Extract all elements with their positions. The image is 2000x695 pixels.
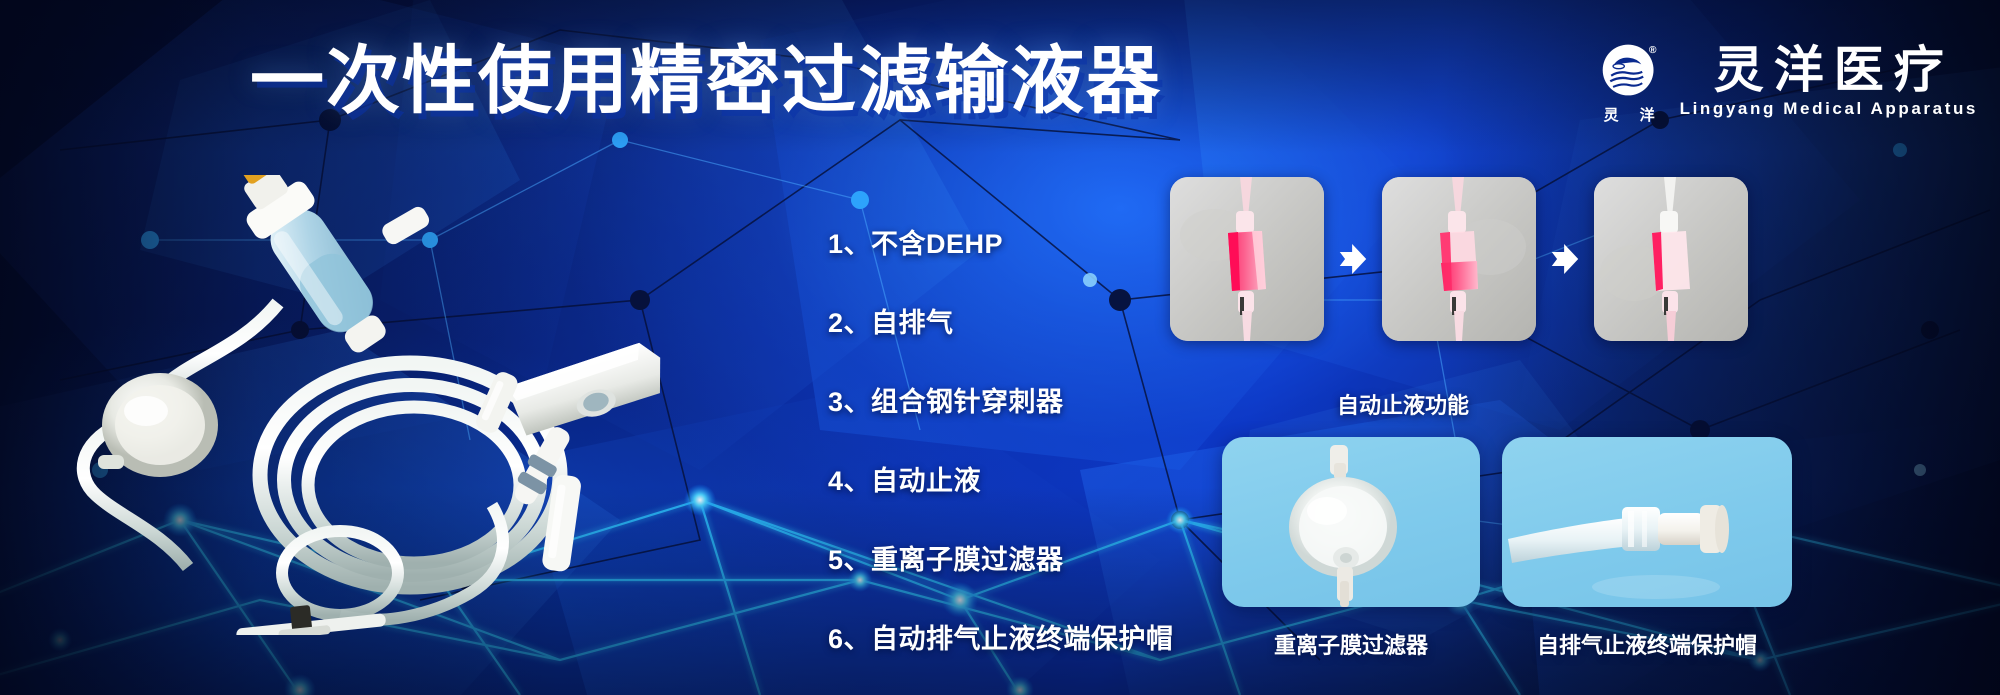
detail-panels — [1222, 437, 1792, 607]
product-banner: 一次性使用精密过滤输液器 ® 灵 洋 灵洋医疗 Ling — [0, 0, 2000, 695]
sequence-caption: 自动止液功能 — [1170, 388, 1636, 420]
heavy-ion-membrane-filter-photo — [1222, 437, 1480, 607]
lingyang-circle-emblem-icon: ® — [1598, 38, 1662, 102]
panel-caption-filter: 重离子膜过滤器 — [1222, 628, 1480, 660]
registered-mark-icon: ® — [1648, 45, 1656, 56]
brand-text-block: 灵洋医疗 Lingyang Medical Apparatus — [1680, 45, 1978, 119]
brand-name-cn: 灵洋医疗 — [1714, 45, 1954, 96]
brand-logo: ® 灵 洋 灵洋医疗 Lingyang Medical Apparatus — [1598, 38, 1978, 125]
self-venting-stop-end-cap-photo — [1502, 437, 1792, 607]
auto-stop-sequence — [1170, 177, 1748, 341]
right-arrow-icon — [1324, 241, 1382, 277]
auto-stop-step-2 — [1382, 177, 1536, 341]
auto-stop-step-3 — [1594, 177, 1748, 341]
roller-clamp-part — [505, 338, 671, 438]
auto-stop-step-1 — [1170, 177, 1324, 341]
emblem-block: ® 灵 洋 — [1598, 38, 1662, 125]
page-title: 一次性使用精密过滤输液器 — [250, 44, 1162, 118]
feature-item-4: 4、自动止液 — [828, 459, 1174, 498]
feature-list: 1、不含DEHP 2、自排气 3、组合钢针穿刺器 4、自动止液 5、重离子膜过滤… — [828, 222, 1174, 656]
emblem-sub-left: 灵 — [1604, 104, 1620, 125]
feature-item-5: 5、重离子膜过滤器 — [828, 538, 1174, 577]
feature-item-3: 3、组合钢针穿刺器 — [828, 380, 1174, 419]
feature-item-1: 1、不含DEHP — [828, 222, 1174, 261]
panel-caption-endcap: 自排气止液终端保护帽 — [1502, 628, 1792, 660]
infusion-set-product-photo — [40, 175, 800, 635]
feature-item-6: 6、自动排气止液终端保护帽 — [828, 617, 1174, 656]
emblem-sub-right: 洋 — [1640, 104, 1656, 125]
brand-name-en: Lingyang Medical Apparatus — [1680, 99, 1978, 119]
round-filter-part — [98, 373, 218, 477]
right-arrow-icon-2 — [1536, 241, 1594, 277]
feature-item-2: 2、自排气 — [828, 301, 1174, 340]
